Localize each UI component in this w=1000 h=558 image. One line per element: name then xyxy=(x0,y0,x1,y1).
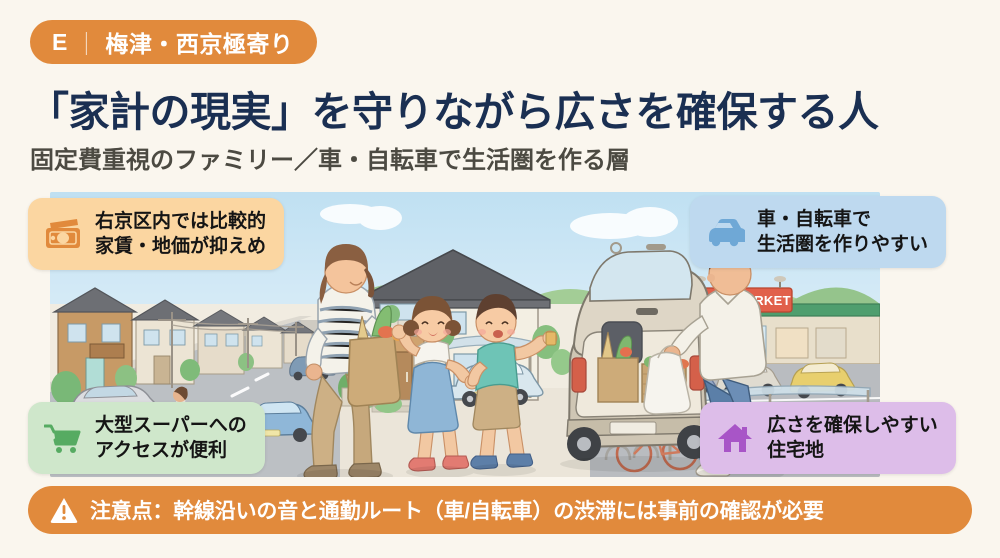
home-icon xyxy=(715,418,755,458)
callout-mobility-line1: 車・自転車で xyxy=(757,209,871,230)
badge-label: 梅津・西京極寄り xyxy=(105,25,293,59)
callout-card-supermarket-text: 大型スーパーへの アクセスが便利 xyxy=(95,413,247,463)
callout-rent-line1: 右京区内では比較的 xyxy=(95,211,266,232)
callout-space-line2: 住宅地 xyxy=(767,438,938,463)
callout-space-line1: 広さを確保しやすい xyxy=(767,415,938,436)
callout-card-rent: 右京区内では比較的 家賃・地価が抑えめ xyxy=(28,198,284,270)
callout-card-mobility: 車・自転車で 生活圏を作りやすい xyxy=(690,196,946,268)
banknote-icon xyxy=(43,214,83,254)
car-icon xyxy=(705,212,745,252)
badge-key: E xyxy=(52,29,68,56)
section-badge: E ｜ 梅津・西京極寄り xyxy=(30,20,317,64)
callout-mobility-line2: 生活圏を作りやすい xyxy=(757,232,928,257)
callout-supermarket-line2: アクセスが便利 xyxy=(95,438,247,463)
shopping-cart-icon xyxy=(43,418,83,458)
callout-card-space-text: 広さを確保しやすい 住宅地 xyxy=(767,413,938,463)
warning-bar: 注意点：幹線沿いの音と通勤ルート（車/自転車）の渋滞には事前の確認が必要 xyxy=(28,486,972,534)
page-title: 「家計の現実」を守りながら広さを確保する人 xyxy=(28,78,879,138)
warning-bar-text: 注意点：幹線沿いの音と通勤ルート（車/自転車）の渋滞には事前の確認が必要 xyxy=(90,495,824,525)
callout-card-rent-text: 右京区内では比較的 家賃・地価が抑えめ xyxy=(95,209,266,259)
page-subtitle: 固定費重視のファミリー／車・自転車で生活圏を作る層 xyxy=(30,140,630,175)
callout-rent-line2: 家賃・地価が抑えめ xyxy=(95,234,266,259)
badge-separator: ｜ xyxy=(75,25,99,59)
callout-card-supermarket: 大型スーパーへの アクセスが便利 xyxy=(28,402,265,474)
warning-triangle-icon xyxy=(50,496,78,524)
callout-supermarket-line1: 大型スーパーへの xyxy=(95,415,247,436)
callout-card-mobility-text: 車・自転車で 生活圏を作りやすい xyxy=(757,207,928,257)
callout-card-space: 広さを確保しやすい 住宅地 xyxy=(700,402,956,474)
slide-root: E ｜ 梅津・西京極寄り 「家計の現実」を守りながら広さを確保する人 固定費重視… xyxy=(0,0,1000,558)
